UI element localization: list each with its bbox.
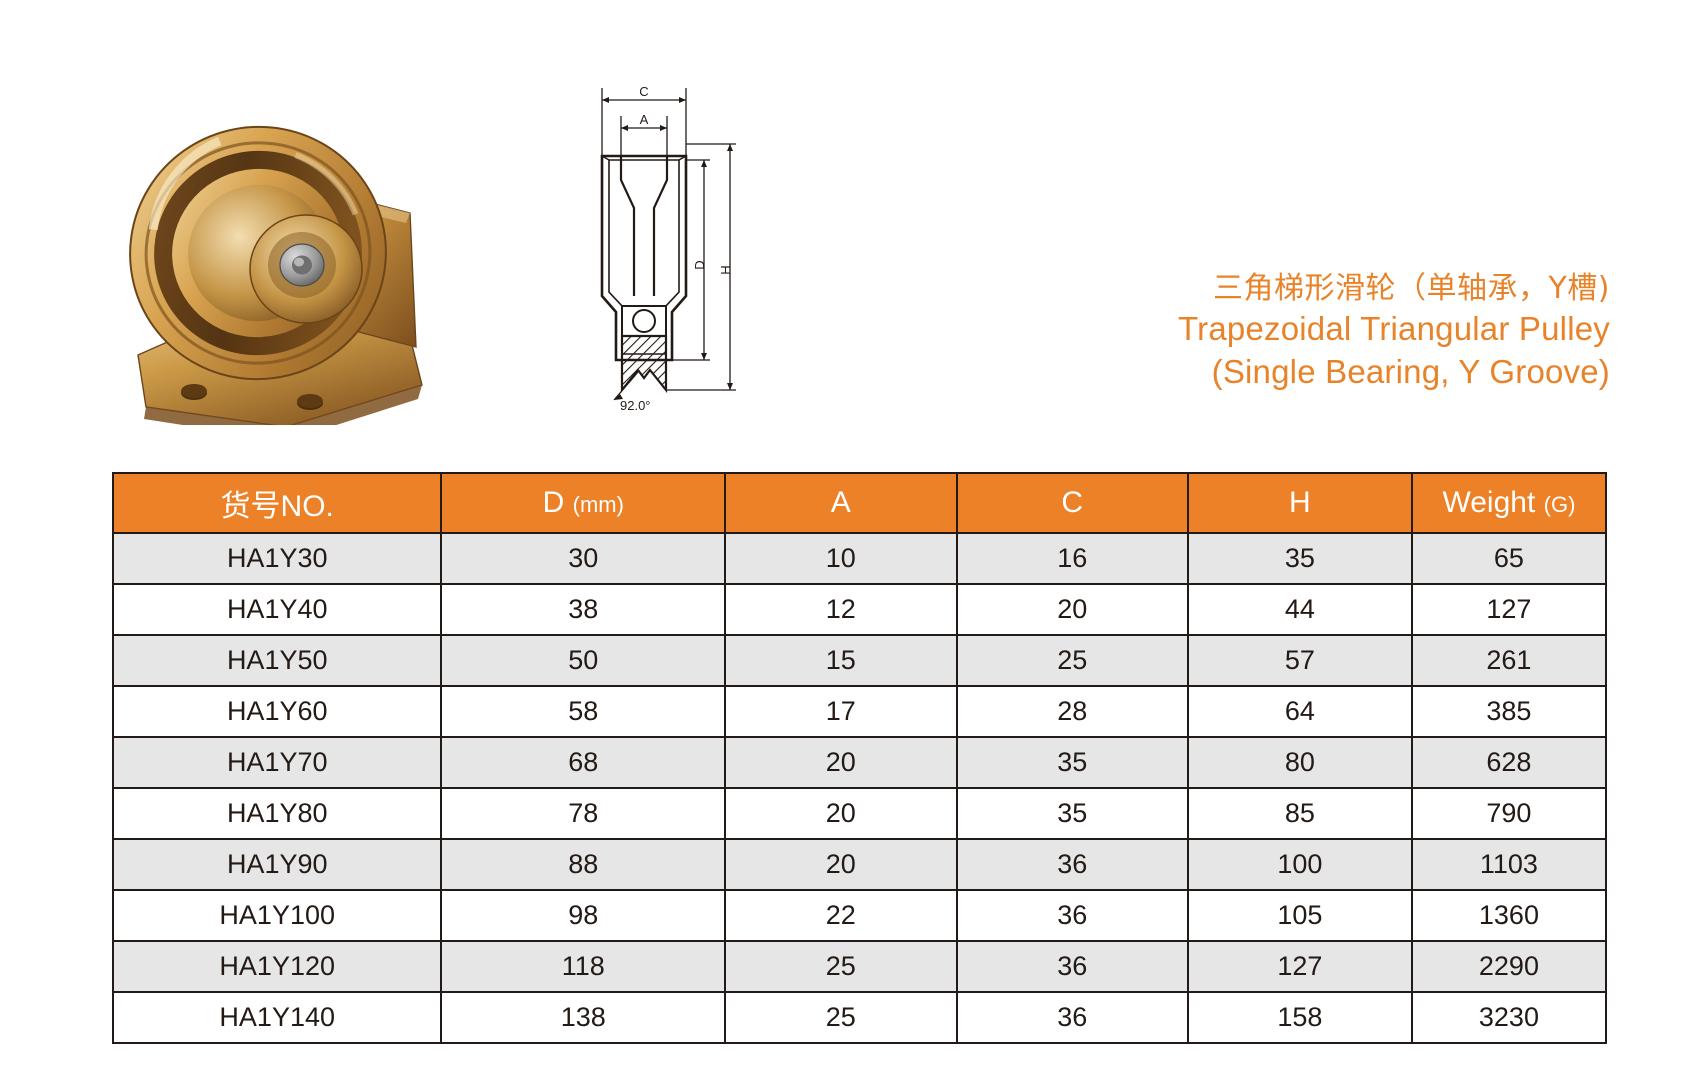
- cell-h: 64: [1188, 686, 1412, 737]
- cell-weight: 65: [1412, 533, 1606, 584]
- table-row: HA1Y14013825361583230: [113, 992, 1606, 1043]
- cell-weight: 3230: [1412, 992, 1606, 1043]
- cell-d: 138: [441, 992, 725, 1043]
- table-row: HA1Y303010163565: [113, 533, 1606, 584]
- table-row: HA1Y908820361001103: [113, 839, 1606, 890]
- cross-section-diagram: C A D H 92.0°: [580, 60, 780, 420]
- cell-c: 36: [957, 941, 1188, 992]
- cell-c: 20: [957, 584, 1188, 635]
- cell-a: 17: [725, 686, 956, 737]
- cell-a: 25: [725, 992, 956, 1043]
- dimension-label-a: A: [640, 112, 649, 127]
- table-body: HA1Y303010163565HA1Y4038122044127HA1Y505…: [113, 533, 1606, 1043]
- cell-a: 20: [725, 737, 956, 788]
- column-header-a: A: [725, 473, 956, 533]
- column-header-c: C: [957, 473, 1188, 533]
- column-header-part-number: 货号NO.: [113, 473, 441, 533]
- cell-weight: 790: [1412, 788, 1606, 839]
- cell-d: 50: [441, 635, 725, 686]
- cell-c: 25: [957, 635, 1188, 686]
- cell-weight: 628: [1412, 737, 1606, 788]
- cell-c: 36: [957, 992, 1188, 1043]
- table-row: HA1Y6058172864385: [113, 686, 1606, 737]
- table-row: HA1Y7068203580628: [113, 737, 1606, 788]
- product-title-english-line1: Trapezoidal Triangular Pulley: [990, 308, 1610, 350]
- cell-d: 118: [441, 941, 725, 992]
- cell-part-number: HA1Y70: [113, 737, 441, 788]
- cell-c: 35: [957, 788, 1188, 839]
- cell-part-number: HA1Y50: [113, 635, 441, 686]
- cell-weight: 261: [1412, 635, 1606, 686]
- cell-d: 38: [441, 584, 725, 635]
- table-row: HA1Y12011825361272290: [113, 941, 1606, 992]
- cell-a: 22: [725, 890, 956, 941]
- cell-h: 105: [1188, 890, 1412, 941]
- cell-a: 20: [725, 839, 956, 890]
- table-row: HA1Y4038122044127: [113, 584, 1606, 635]
- cell-h: 158: [1188, 992, 1412, 1043]
- cell-h: 85: [1188, 788, 1412, 839]
- table-header-row: 货号NO. D (mm) A C H Weight (G): [113, 473, 1606, 533]
- cell-part-number: HA1Y140: [113, 992, 441, 1043]
- cell-part-number: HA1Y120: [113, 941, 441, 992]
- specification-table: 货号NO. D (mm) A C H Weight (G) HA1Y3: [112, 472, 1607, 1044]
- cell-a: 20: [725, 788, 956, 839]
- column-header-label: 货号NO.: [221, 490, 334, 523]
- table-row: HA1Y8078203585790: [113, 788, 1606, 839]
- cell-h: 100: [1188, 839, 1412, 890]
- table-row: HA1Y1009822361051360: [113, 890, 1606, 941]
- cell-a: 25: [725, 941, 956, 992]
- column-header-label: A: [831, 486, 851, 519]
- column-header-label: H: [1289, 486, 1311, 519]
- cell-part-number: HA1Y30: [113, 533, 441, 584]
- cell-c: 35: [957, 737, 1188, 788]
- cell-a: 10: [725, 533, 956, 584]
- table-row: HA1Y5050152557261: [113, 635, 1606, 686]
- cell-d: 98: [441, 890, 725, 941]
- cell-d: 30: [441, 533, 725, 584]
- cell-weight: 385: [1412, 686, 1606, 737]
- cell-d: 78: [441, 788, 725, 839]
- cell-d: 88: [441, 839, 725, 890]
- cell-c: 36: [957, 839, 1188, 890]
- cell-h: 127: [1188, 941, 1412, 992]
- specification-table-container: 货号NO. D (mm) A C H Weight (G) HA1Y3: [112, 472, 1607, 1044]
- product-title-english-line2: (Single Bearing, Y Groove): [990, 351, 1610, 393]
- table-header: 货号NO. D (mm) A C H Weight (G): [113, 473, 1606, 533]
- column-header-d: D (mm): [441, 473, 725, 533]
- cell-h: 57: [1188, 635, 1412, 686]
- product-title-block: 三角梯形滑轮（单轴承，Y槽) Trapezoidal Triangular Pu…: [990, 270, 1610, 393]
- cell-a: 12: [725, 584, 956, 635]
- product-title-chinese: 三角梯形滑轮（单轴承，Y槽): [990, 270, 1610, 308]
- cell-h: 44: [1188, 584, 1412, 635]
- cell-weight: 2290: [1412, 941, 1606, 992]
- cell-weight: 127: [1412, 584, 1606, 635]
- column-header-weight: Weight (G): [1412, 473, 1606, 533]
- cell-weight: 1103: [1412, 839, 1606, 890]
- cell-weight: 1360: [1412, 890, 1606, 941]
- dimension-label-angle: 92.0°: [620, 398, 651, 413]
- cell-d: 58: [441, 686, 725, 737]
- cell-part-number: HA1Y60: [113, 686, 441, 737]
- column-header-label: Weight: [1442, 486, 1535, 519]
- dimension-label-h: H: [718, 265, 733, 274]
- column-header-h: H: [1188, 473, 1412, 533]
- cell-part-number: HA1Y80: [113, 788, 441, 839]
- product-photo: [110, 55, 470, 425]
- column-header-label: C: [1061, 486, 1083, 519]
- cell-c: 36: [957, 890, 1188, 941]
- cell-part-number: HA1Y90: [113, 839, 441, 890]
- dimension-label-c: C: [639, 84, 648, 99]
- cell-part-number: HA1Y40: [113, 584, 441, 635]
- cell-d: 68: [441, 737, 725, 788]
- cell-a: 15: [725, 635, 956, 686]
- cell-h: 35: [1188, 533, 1412, 584]
- column-header-unit: (G): [1544, 492, 1576, 517]
- column-header-label: D: [543, 486, 565, 519]
- dimension-label-d: D: [692, 260, 707, 269]
- technical-drawing: C A D H 92.0°: [580, 60, 780, 420]
- column-header-unit: (mm): [573, 492, 624, 517]
- product-photo-illustration: [110, 55, 470, 425]
- cell-h: 80: [1188, 737, 1412, 788]
- cell-c: 16: [957, 533, 1188, 584]
- cell-part-number: HA1Y100: [113, 890, 441, 941]
- cell-c: 28: [957, 686, 1188, 737]
